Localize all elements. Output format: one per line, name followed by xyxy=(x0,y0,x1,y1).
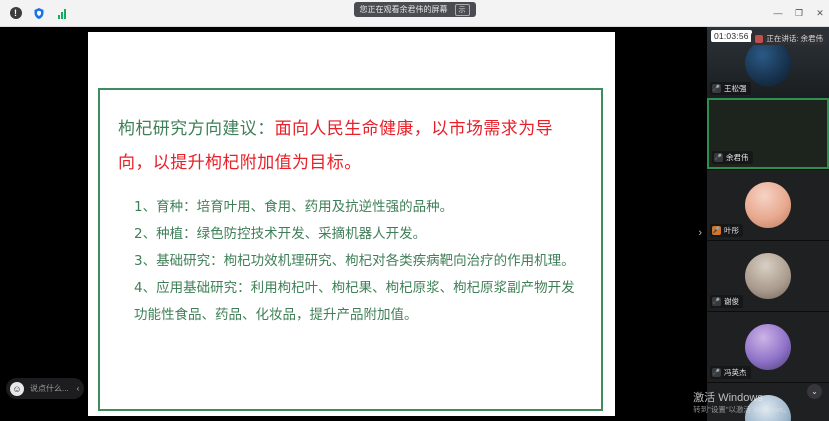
participant-name: 冯英杰 xyxy=(724,367,747,378)
participant-label: 🎤 叶彤 xyxy=(710,224,743,237)
top-system-strip: ! 您正在观看余君伟的屏幕 示 — ❐ ✕ xyxy=(0,0,829,27)
active-speaker-badge: 正在讲话: 余君伟 xyxy=(751,32,827,45)
speaker-avatar xyxy=(755,35,763,43)
slide-bullet-list: 1、育种：培育叶用、食用、药用及抗逆性强的品种。 2、种植：绿色防控技术开发、采… xyxy=(118,194,581,329)
share-notice-text: 您正在观看余君伟的屏幕 xyxy=(360,4,448,15)
slide-bullet-3: 3、基础研究：枸杞功效机理研究、枸杞对各类疾病靶向治疗的作用机理。 xyxy=(118,248,581,275)
maximize-button[interactable]: ❐ xyxy=(794,9,804,18)
participant-name: 谢俊 xyxy=(724,296,739,307)
close-button[interactable]: ✕ xyxy=(815,9,825,18)
expand-panel-arrow-icon[interactable]: › xyxy=(698,227,702,239)
participant-label: 🎤 余君伟 xyxy=(712,151,753,164)
participant-name: 余君伟 xyxy=(726,152,749,163)
participant-rail[interactable]: 01:03:56 正在讲话: 余君伟 🎤 王松强 🎤 余君伟 xyxy=(707,27,829,421)
participant-label: 🎤 谢俊 xyxy=(710,295,743,308)
participant-label: 🎤 王松强 xyxy=(710,82,751,95)
microphone-icon: 🎤 xyxy=(712,84,721,93)
signal-bars-icon[interactable] xyxy=(55,7,68,20)
chat-input-bar[interactable]: ☺ 说点什么... ‹ xyxy=(6,378,84,399)
chat-input-placeholder[interactable]: 说点什么... xyxy=(30,383,69,394)
meeting-timer: 01:03:56 xyxy=(711,30,752,42)
participant-tile[interactable]: 🎤 冯英杰 xyxy=(707,311,829,382)
microphone-muted-icon: 🎤 xyxy=(712,226,721,235)
slide-title: 枸杞研究方向建议：面向人民生命健康，以市场需求为导向，以提升枸杞附加值为目标。 xyxy=(118,112,581,180)
slide-bullet-1: 1、育种：培育叶用、食用、药用及抗逆性强的品种。 xyxy=(118,194,581,221)
active-speaker-label: 正在讲话: 余君伟 xyxy=(766,33,823,44)
avatar xyxy=(745,182,791,228)
shared-screen-stage[interactable]: 枸杞研究方向建议：面向人民生命健康，以市场需求为导向，以提升枸杞附加值为目标。 … xyxy=(0,27,707,421)
shield-icon[interactable] xyxy=(32,7,45,20)
microphone-icon: 🎤 xyxy=(712,297,721,306)
window-controls: — ❐ ✕ xyxy=(773,0,825,27)
avatar xyxy=(745,324,791,370)
slide-bullet-2: 2、种植：绿色防控技术开发、采摘机器人开发。 xyxy=(118,221,581,248)
participant-tile-active[interactable]: 🎤 余君伟 xyxy=(707,98,829,169)
presentation-slide: 枸杞研究方向建议：面向人民生命健康，以市场需求为导向，以提升枸杞附加值为目标。 … xyxy=(88,32,615,416)
minimize-button[interactable]: — xyxy=(773,9,783,18)
smile-icon[interactable]: ☺ xyxy=(10,382,24,396)
participant-tile[interactable]: 🎤 叶彤 xyxy=(707,169,829,240)
slide-bullet-4: 4、应用基础研究：利用枸杞叶、枸杞果、枸杞原浆、枸杞原浆副产物开发功能性食品、药… xyxy=(118,275,581,329)
info-icon[interactable]: ! xyxy=(9,7,22,20)
participant-label: 🎤 冯英杰 xyxy=(710,366,751,379)
screen-share-notice[interactable]: 您正在观看余君伟的屏幕 示 xyxy=(354,2,476,17)
slide-inner-border: 枸杞研究方向建议：面向人民生命健康，以市场需求为导向，以提升枸杞附加值为目标。 … xyxy=(98,88,603,411)
tray-icon-group: ! xyxy=(0,7,68,20)
application-window: ! 您正在观看余君伟的屏幕 示 — ❐ ✕ xyxy=(0,0,829,421)
participant-name: 王松强 xyxy=(724,83,747,94)
stop-share-button[interactable]: 示 xyxy=(455,4,470,16)
scroll-down-icon[interactable]: ⌄ xyxy=(807,384,822,399)
chat-collapse-icon[interactable]: ‹ xyxy=(75,384,80,393)
avatar xyxy=(745,253,791,299)
slide-title-green: 枸杞研究方向建议： xyxy=(118,119,275,139)
avatar xyxy=(745,40,791,86)
participant-name: 叶彤 xyxy=(724,225,739,236)
microphone-icon: 🎤 xyxy=(712,368,721,377)
microphone-icon: 🎤 xyxy=(714,153,723,162)
participant-tile[interactable]: 🎤 谢俊 xyxy=(707,240,829,311)
